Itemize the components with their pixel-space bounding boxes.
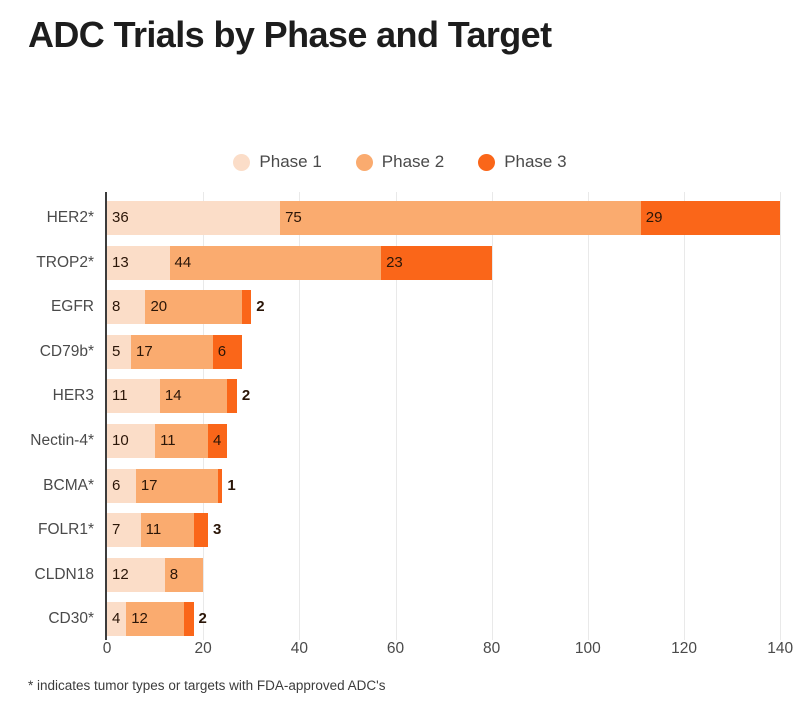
bar-value-label: 10 bbox=[107, 424, 129, 458]
legend-label: Phase 2 bbox=[382, 152, 444, 172]
bar-row[interactable]: FOLR1*7113 bbox=[0, 508, 800, 552]
category-label: CD30* bbox=[0, 597, 94, 641]
x-axis-tick-label: 0 bbox=[103, 640, 112, 658]
category-label: HER3 bbox=[0, 374, 94, 418]
bar-value-label: 7 bbox=[107, 513, 120, 547]
stacked-bar: 6171 bbox=[107, 469, 222, 503]
x-axis-tick-label: 40 bbox=[291, 640, 308, 658]
bar-row[interactable]: HER2*367529 bbox=[0, 196, 800, 240]
stacked-bar: 128 bbox=[107, 558, 203, 592]
bar-value-label: 75 bbox=[280, 201, 302, 235]
page-title: ADC Trials by Phase and Target bbox=[28, 14, 552, 56]
plot-area: HER2*367529TROP2*134423EGFR8202CD79b*517… bbox=[0, 192, 800, 640]
bar-row[interactable]: BCMA*6171 bbox=[0, 464, 800, 508]
bar-value-label: 2 bbox=[194, 602, 207, 636]
category-label: CLDN18 bbox=[0, 553, 94, 597]
category-label: Nectin-4* bbox=[0, 419, 94, 463]
bar-value-label: 11 bbox=[155, 424, 176, 458]
stacked-bar: 8202 bbox=[107, 290, 251, 324]
bar-row[interactable]: CD79b*5176 bbox=[0, 330, 800, 374]
stacked-bar: 367529 bbox=[107, 201, 780, 235]
bar-value-label: 11 bbox=[107, 379, 128, 413]
bar-value-label: 4 bbox=[107, 602, 120, 636]
bar-value-label: 2 bbox=[237, 379, 250, 413]
bar-value-label: 36 bbox=[107, 201, 129, 235]
bar-value-label: 2 bbox=[251, 290, 264, 324]
x-axis-tick-label: 120 bbox=[671, 640, 697, 658]
x-axis: 020406080100120140 bbox=[0, 640, 800, 666]
legend-label: Phase 3 bbox=[504, 152, 566, 172]
stacked-bar: 7113 bbox=[107, 513, 208, 547]
category-label: HER2* bbox=[0, 196, 94, 240]
bar-value-label: 11 bbox=[141, 513, 162, 547]
bar-value-label: 44 bbox=[170, 246, 192, 280]
legend-label: Phase 1 bbox=[259, 152, 321, 172]
bar-value-label: 6 bbox=[213, 335, 226, 369]
chart-legend: Phase 1 Phase 2 Phase 3 bbox=[0, 152, 800, 172]
stacked-bar: 10114 bbox=[107, 424, 227, 458]
category-label: FOLR1* bbox=[0, 508, 94, 552]
bar-row[interactable]: EGFR8202 bbox=[0, 285, 800, 329]
x-axis-tick-label: 80 bbox=[483, 640, 500, 658]
category-label: BCMA* bbox=[0, 464, 94, 508]
stacked-bar: 4122 bbox=[107, 602, 194, 636]
category-label: TROP2* bbox=[0, 241, 94, 285]
x-axis-tick-label: 100 bbox=[575, 640, 601, 658]
legend-item-phase-2[interactable]: Phase 2 bbox=[356, 152, 444, 172]
bar-value-label: 1 bbox=[222, 469, 235, 503]
stacked-bar: 11142 bbox=[107, 379, 237, 413]
bar-segment[interactable] bbox=[227, 379, 237, 413]
circle-swatch-icon bbox=[356, 154, 373, 171]
bar-value-label: 29 bbox=[641, 201, 663, 235]
bar-value-label: 6 bbox=[107, 469, 120, 503]
x-axis-tick-label: 60 bbox=[387, 640, 404, 658]
bar-segment[interactable] bbox=[184, 602, 194, 636]
stacked-bar: 5176 bbox=[107, 335, 242, 369]
bar-value-label: 13 bbox=[107, 246, 129, 280]
bar-value-label: 8 bbox=[165, 558, 178, 592]
category-label: CD79b* bbox=[0, 330, 94, 374]
bar-value-label: 12 bbox=[107, 558, 129, 592]
bar-value-label: 12 bbox=[126, 602, 148, 636]
footnote: * indicates tumor types or targets with … bbox=[28, 678, 385, 693]
legend-item-phase-1[interactable]: Phase 1 bbox=[233, 152, 321, 172]
bar-row[interactable]: HER311142 bbox=[0, 374, 800, 418]
bar-value-label: 23 bbox=[381, 246, 403, 280]
x-axis-tick-label: 20 bbox=[195, 640, 212, 658]
circle-swatch-icon bbox=[478, 154, 495, 171]
bar-value-label: 14 bbox=[160, 379, 182, 413]
bar-value-label: 8 bbox=[107, 290, 120, 324]
x-axis-tick-label: 140 bbox=[767, 640, 793, 658]
stacked-bar: 134423 bbox=[107, 246, 492, 280]
bar-row[interactable]: TROP2*134423 bbox=[0, 241, 800, 285]
category-label: EGFR bbox=[0, 285, 94, 329]
bar-row[interactable]: CLDN18128 bbox=[0, 553, 800, 597]
bar-value-label: 17 bbox=[131, 335, 153, 369]
bar-row[interactable]: CD30*4122 bbox=[0, 597, 800, 641]
bar-row[interactable]: Nectin-4*10114 bbox=[0, 419, 800, 463]
bar-value-label: 5 bbox=[107, 335, 120, 369]
bar-segment[interactable] bbox=[242, 290, 252, 324]
bar-value-label: 17 bbox=[136, 469, 158, 503]
bar-segment[interactable] bbox=[170, 246, 382, 280]
bar-value-label: 4 bbox=[208, 424, 221, 458]
bar-value-label: 20 bbox=[145, 290, 167, 324]
bar-segment[interactable] bbox=[280, 201, 641, 235]
legend-item-phase-3[interactable]: Phase 3 bbox=[478, 152, 566, 172]
circle-swatch-icon bbox=[233, 154, 250, 171]
bar-value-label: 3 bbox=[208, 513, 221, 547]
bar-rows: HER2*367529TROP2*134423EGFR8202CD79b*517… bbox=[0, 192, 800, 640]
bar-segment[interactable] bbox=[194, 513, 208, 547]
bar-segment[interactable] bbox=[107, 201, 280, 235]
